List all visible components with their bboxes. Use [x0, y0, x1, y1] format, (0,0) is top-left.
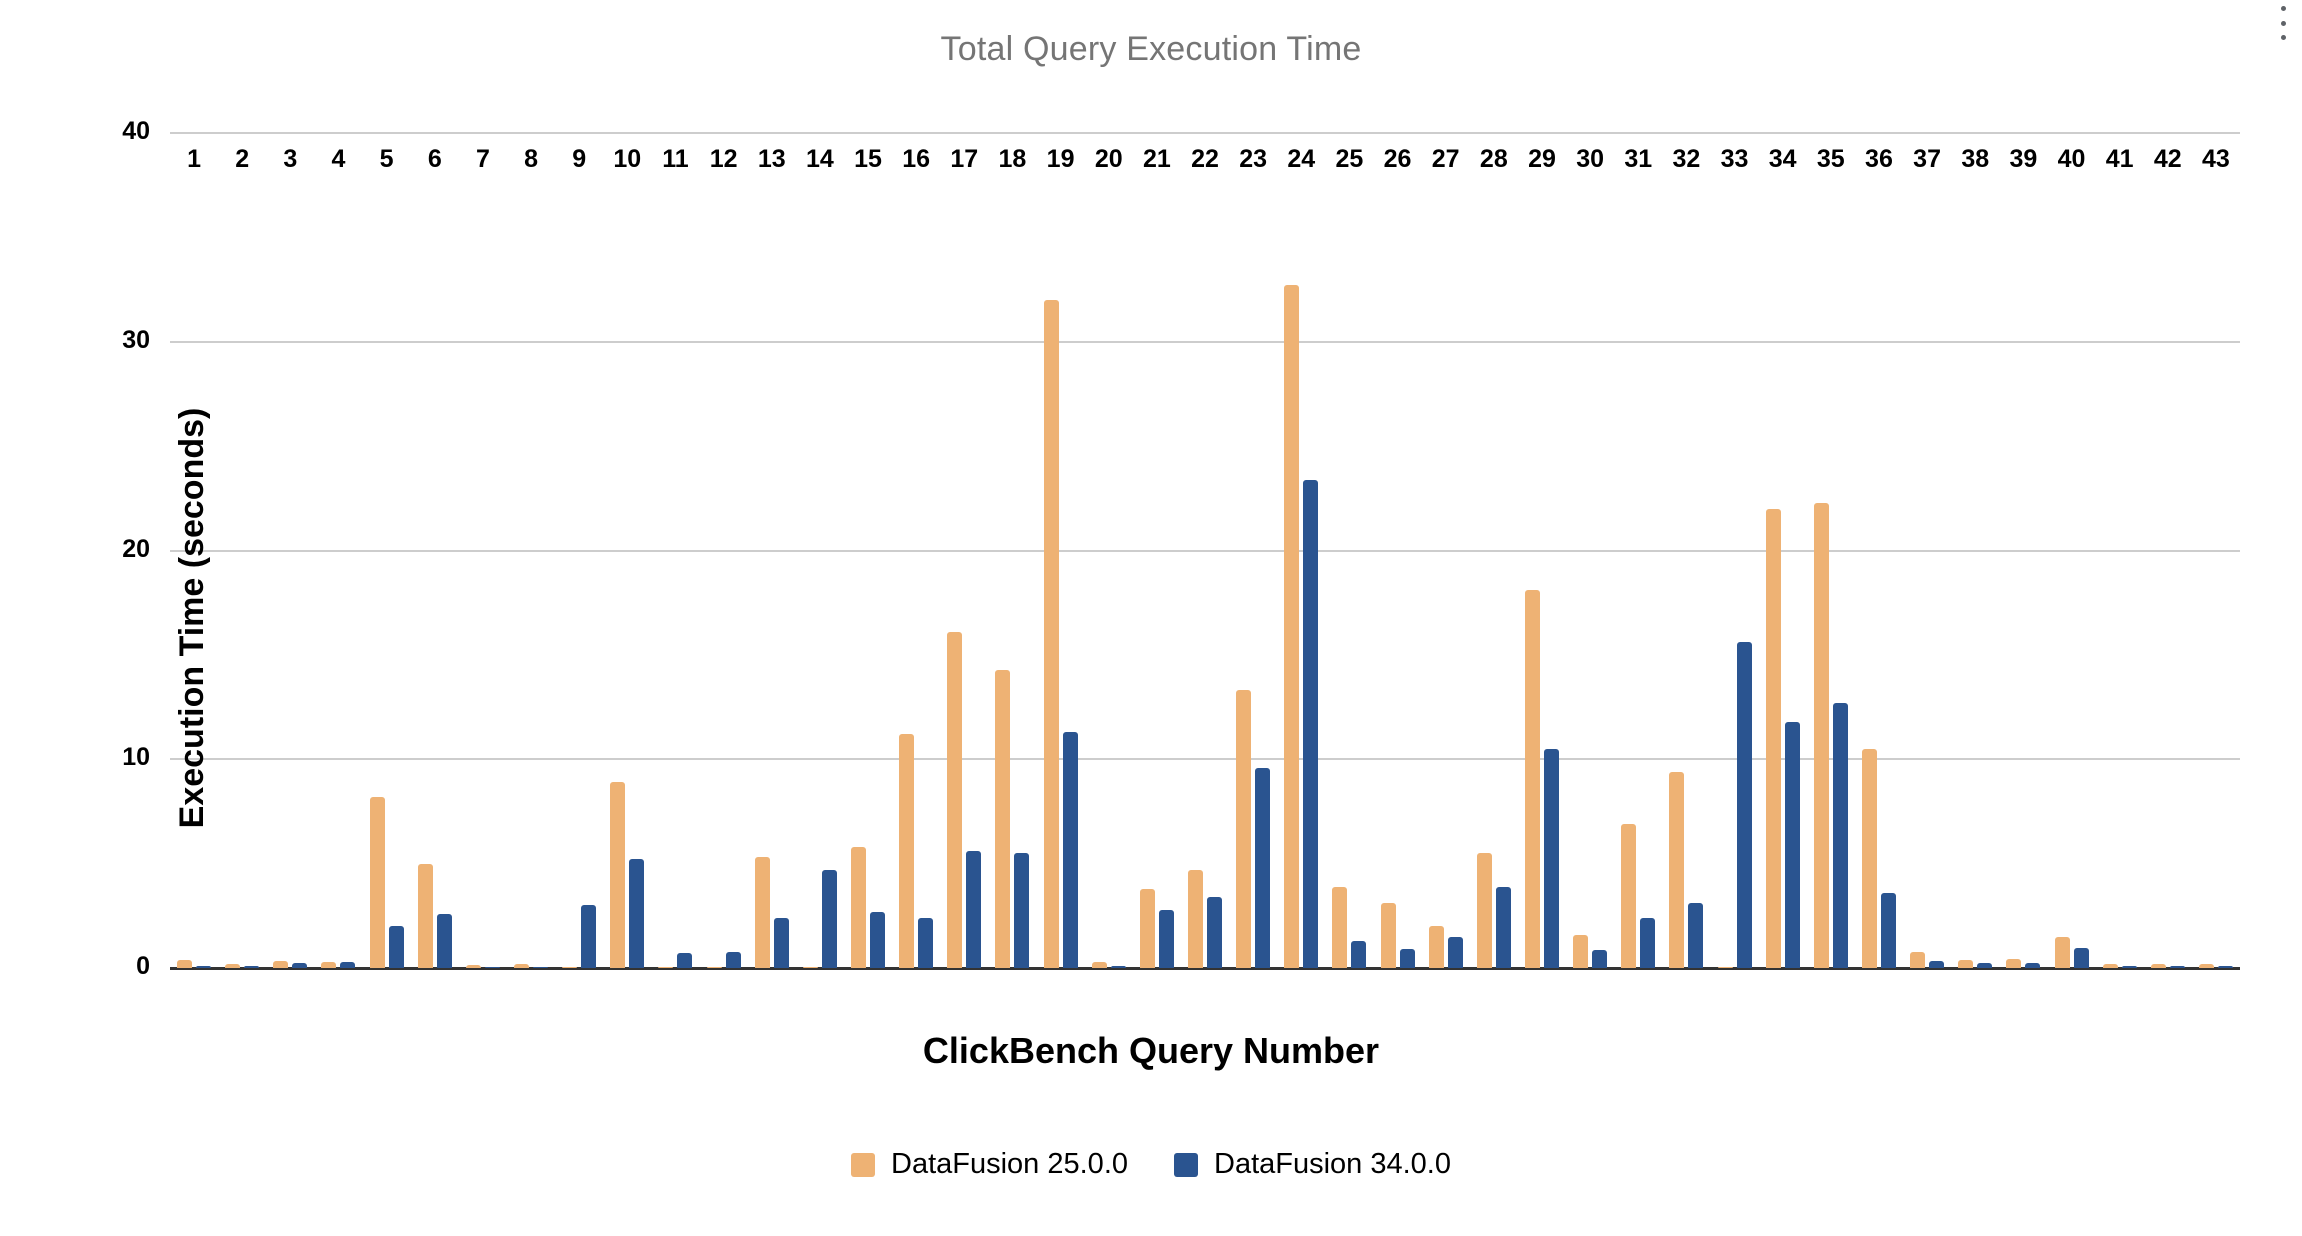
dot-2 — [2281, 21, 2286, 26]
bar-group — [1951, 133, 1999, 968]
bar[interactable] — [1640, 918, 1655, 968]
x-axis-tick-label: 21 — [1143, 145, 1171, 174]
x-axis-tick-label: 15 — [854, 145, 882, 174]
legend-item[interactable]: DataFusion 25.0.0 — [851, 1148, 1128, 1181]
y-axis-tick-label: 20 — [90, 535, 150, 564]
bar[interactable] — [966, 851, 981, 968]
x-axis-tick-label: 39 — [2009, 145, 2037, 174]
bar-group — [411, 133, 459, 968]
x-axis-title: ClickBench Query Number — [0, 1030, 2302, 1072]
bar-group — [459, 133, 507, 968]
x-axis-tick-label: 7 — [476, 145, 490, 174]
bar[interactable] — [677, 953, 692, 968]
x-axis-tick-label: 29 — [1528, 145, 1556, 174]
bar[interactable] — [1496, 887, 1511, 968]
bar[interactable] — [870, 912, 885, 968]
x-axis-tick-label: 42 — [2154, 145, 2182, 174]
x-axis-tick-label: 8 — [524, 145, 538, 174]
bar[interactable] — [2218, 966, 2233, 968]
bar[interactable] — [273, 961, 288, 968]
bar[interactable] — [610, 782, 625, 968]
bar-group — [1999, 133, 2047, 968]
x-axis-tick-label: 37 — [1913, 145, 1941, 174]
bar-group — [1373, 133, 1421, 968]
bar-group — [1277, 133, 1325, 968]
plot-area: 010203040 123456789101112131415161718192… — [170, 133, 2240, 968]
bar[interactable] — [1737, 642, 1752, 968]
bar[interactable] — [2122, 966, 2137, 968]
chart-title: Total Query Execution Time — [0, 30, 2302, 69]
bar[interactable] — [1977, 963, 1992, 968]
bar[interactable] — [1014, 853, 1029, 968]
bar-group — [1422, 133, 1470, 968]
bar[interactable] — [1063, 732, 1078, 968]
x-axis-tick-label: 38 — [1961, 145, 1989, 174]
bar[interactable] — [177, 960, 192, 968]
x-axis-tick-label: 23 — [1239, 145, 1267, 174]
bar[interactable] — [466, 965, 481, 968]
x-axis-tick-label: 2 — [235, 145, 249, 174]
bar[interactable] — [2170, 966, 2185, 968]
x-axis-tick-label: 28 — [1480, 145, 1508, 174]
bar[interactable] — [1044, 300, 1059, 968]
x-axis-tick-label: 9 — [572, 145, 586, 174]
bar-group — [266, 133, 314, 968]
bar-group — [218, 133, 266, 968]
bar[interactable] — [1958, 960, 1973, 968]
bar-group — [651, 133, 699, 968]
bar-group — [940, 133, 988, 968]
bar-group — [2047, 133, 2095, 968]
bar-group — [796, 133, 844, 968]
bar[interactable] — [196, 966, 211, 968]
bar-group — [507, 133, 555, 968]
bar[interactable] — [1766, 509, 1781, 968]
bar-group — [1133, 133, 1181, 968]
bar[interactable] — [2074, 948, 2089, 968]
bar-group — [892, 133, 940, 968]
legend-item[interactable]: DataFusion 34.0.0 — [1174, 1148, 1451, 1181]
x-axis-tick-label: 33 — [1721, 145, 1749, 174]
bar[interactable] — [1814, 503, 1829, 969]
bar[interactable] — [1140, 889, 1155, 968]
bar[interactable] — [774, 918, 789, 968]
x-axis-tick-label: 26 — [1384, 145, 1412, 174]
y-axis-tick-label: 40 — [90, 117, 150, 146]
bar[interactable] — [1573, 935, 1588, 968]
bar[interactable] — [1332, 887, 1347, 968]
bar-group — [1662, 133, 1710, 968]
bar[interactable] — [1092, 962, 1107, 968]
bar[interactable] — [1477, 853, 1492, 968]
x-axis-tick-label: 43 — [2202, 145, 2230, 174]
bar[interactable] — [1188, 870, 1203, 968]
bar-group — [1614, 133, 1662, 968]
legend-swatch — [1174, 1153, 1198, 1177]
x-axis-tick-label: 6 — [428, 145, 442, 174]
bar-group — [1566, 133, 1614, 968]
bar-group — [1710, 133, 1758, 968]
bar[interactable] — [1881, 893, 1896, 968]
bar[interactable] — [899, 734, 914, 968]
legend-swatch — [851, 1153, 875, 1177]
x-axis-tick-label: 17 — [950, 145, 978, 174]
bar-group — [363, 133, 411, 968]
bar[interactable] — [1910, 952, 1925, 968]
x-axis-tick-label: 22 — [1191, 145, 1219, 174]
bar[interactable] — [629, 859, 644, 968]
bar[interactable] — [1381, 903, 1396, 968]
x-axis-tick-label: 12 — [710, 145, 738, 174]
x-axis-tick-label: 4 — [332, 145, 346, 174]
bar[interactable] — [1544, 749, 1559, 968]
bar[interactable] — [803, 967, 818, 969]
bar[interactable] — [1718, 967, 1733, 969]
bar[interactable] — [658, 967, 673, 969]
y-axis-title: Execution Time (seconds) — [173, 408, 212, 829]
chart-container: Total Query Execution Time 010203040 123… — [0, 0, 2302, 1236]
bar[interactable] — [1255, 768, 1270, 968]
x-axis-tick-label: 40 — [2058, 145, 2086, 174]
bar-group — [555, 133, 603, 968]
bar[interactable] — [370, 797, 385, 968]
bar-group — [1855, 133, 1903, 968]
bar[interactable] — [1236, 690, 1251, 968]
bar[interactable] — [1303, 480, 1318, 968]
bar[interactable] — [1207, 897, 1222, 968]
bar[interactable] — [2151, 964, 2166, 968]
bar[interactable] — [2055, 937, 2070, 968]
bar[interactable] — [726, 952, 741, 968]
bar-group — [1903, 133, 1951, 968]
bar-group — [603, 133, 651, 968]
bar[interactable] — [1284, 285, 1299, 968]
bar-group — [1518, 133, 1566, 968]
x-axis-tick-label: 14 — [806, 145, 834, 174]
bar[interactable] — [581, 905, 596, 968]
x-axis-tick-label: 35 — [1817, 145, 1845, 174]
x-axis-tick-label: 34 — [1769, 145, 1797, 174]
bar[interactable] — [340, 962, 355, 968]
bar-group — [1470, 133, 1518, 968]
x-axis-tick-label: 24 — [1287, 145, 1315, 174]
bar-group — [1181, 133, 1229, 968]
x-axis-tick-label: 30 — [1576, 145, 1604, 174]
bar[interactable] — [1448, 937, 1463, 968]
x-axis-tick-label: 19 — [1047, 145, 1075, 174]
bar[interactable] — [995, 670, 1010, 969]
bar[interactable] — [2006, 959, 2021, 968]
bar[interactable] — [1429, 926, 1444, 968]
bar-group — [2096, 133, 2144, 968]
bar[interactable] — [947, 632, 962, 968]
bar[interactable] — [1159, 910, 1174, 968]
bar[interactable] — [755, 857, 770, 968]
bar[interactable] — [1785, 722, 1800, 968]
bar[interactable] — [292, 963, 307, 968]
x-axis-tick-label: 31 — [1624, 145, 1652, 174]
bar[interactable] — [2025, 963, 2040, 968]
y-axis-tick-label: 30 — [90, 326, 150, 355]
chart-legend: DataFusion 25.0.0DataFusion 34.0.0 — [0, 1148, 2302, 1181]
bar-group — [748, 133, 796, 968]
bar[interactable] — [533, 967, 548, 969]
bar[interactable] — [1525, 590, 1540, 968]
bar[interactable] — [562, 967, 577, 969]
x-axis-tick-label: 41 — [2106, 145, 2134, 174]
x-axis-tick-label: 16 — [902, 145, 930, 174]
bar[interactable] — [1929, 961, 1944, 968]
y-axis-tick-label: 10 — [90, 743, 150, 772]
bar-group — [2144, 133, 2192, 968]
bar-group — [314, 133, 362, 968]
bar-group — [1037, 133, 1085, 968]
bar-group — [1085, 133, 1133, 968]
x-axis-tick-label: 25 — [1336, 145, 1364, 174]
x-axis-tick-label: 27 — [1432, 145, 1460, 174]
x-axis-tick-label: 5 — [380, 145, 394, 174]
bar[interactable] — [418, 864, 433, 968]
bar[interactable] — [485, 967, 500, 969]
bar[interactable] — [225, 964, 240, 968]
dot-1 — [2281, 6, 2286, 11]
bar[interactable] — [1669, 772, 1684, 968]
bar[interactable] — [1351, 941, 1366, 968]
bar-group — [1229, 133, 1277, 968]
bar[interactable] — [389, 926, 404, 968]
bar[interactable] — [321, 962, 336, 968]
bar[interactable] — [244, 966, 259, 968]
x-axis-tick-label: 20 — [1095, 145, 1123, 174]
bar[interactable] — [1621, 824, 1636, 968]
bar[interactable] — [2199, 964, 2214, 968]
x-axis-tick-label: 3 — [283, 145, 297, 174]
bar[interactable] — [514, 964, 529, 968]
x-axis-tick-label: 18 — [999, 145, 1027, 174]
x-axis-tick-label: 11 — [662, 145, 688, 174]
x-axis-tick-label: 13 — [758, 145, 786, 174]
x-axis-tick-label: 32 — [1672, 145, 1700, 174]
bar[interactable] — [822, 870, 837, 968]
legend-label: DataFusion 25.0.0 — [891, 1148, 1128, 1181]
bar[interactable] — [918, 918, 933, 968]
bar-group — [2192, 133, 2240, 968]
x-axis-tick-label: 1 — [187, 145, 201, 174]
bar-group — [1325, 133, 1373, 968]
bar-group — [700, 133, 748, 968]
bar[interactable] — [1592, 950, 1607, 968]
bar[interactable] — [1111, 966, 1126, 968]
bar[interactable] — [1400, 949, 1415, 968]
bar-group — [1759, 133, 1807, 968]
x-axis-tick-label: 10 — [613, 145, 641, 174]
x-axis-tick-label: 36 — [1865, 145, 1893, 174]
bar-group — [1807, 133, 1855, 968]
y-axis-tick-label: 0 — [90, 952, 150, 981]
bar[interactable] — [1862, 749, 1877, 968]
bar-group — [844, 133, 892, 968]
bar[interactable] — [1688, 903, 1703, 968]
bar[interactable] — [1833, 703, 1848, 968]
bar[interactable] — [707, 967, 722, 969]
legend-label: DataFusion 34.0.0 — [1214, 1148, 1451, 1181]
bar[interactable] — [851, 847, 866, 968]
bar-group — [988, 133, 1036, 968]
bar[interactable] — [437, 914, 452, 968]
bar[interactable] — [2103, 964, 2118, 968]
